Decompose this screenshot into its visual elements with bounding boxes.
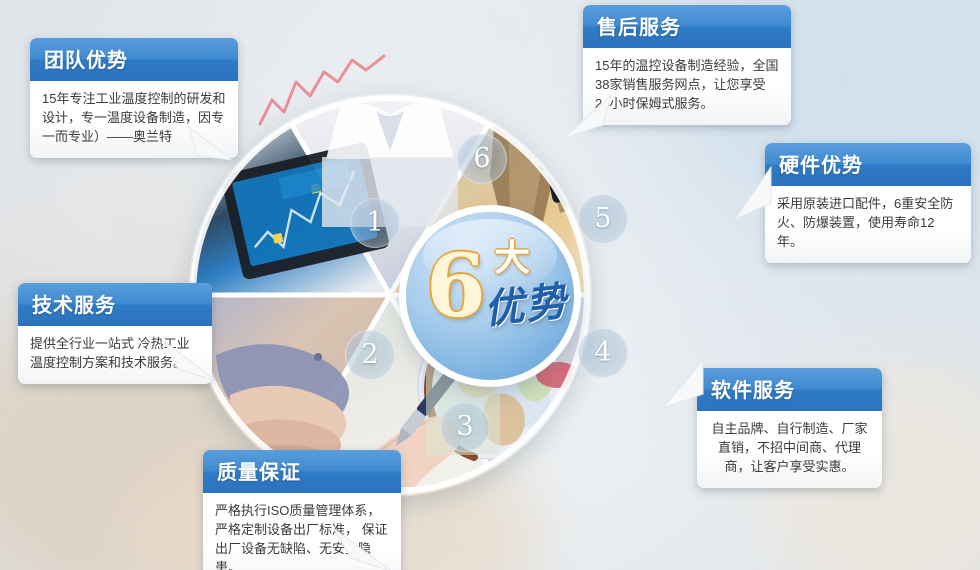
callout-team-title: 团队优势 — [30, 38, 238, 81]
callout-technical-title: 技术服务 — [18, 283, 212, 326]
callout-tail — [559, 95, 615, 155]
center-hub: 6 大 优势 — [406, 212, 574, 380]
center-word: 优势 — [482, 280, 570, 333]
segment-number-2[interactable]: 2 — [345, 330, 395, 380]
center-unit: 大 — [494, 240, 530, 276]
segment-number-5[interactable]: 5 — [578, 194, 628, 244]
callout-tail — [164, 341, 226, 391]
callout-hardware-title: 硬件优势 — [765, 143, 971, 186]
callout-software-service[interactable]: 软件服务 自主品牌、自行制造、厂家直销，不招中间商、代理商，让客户享受实惠。 — [697, 368, 882, 488]
infographic-canvas: 6 大 优势 1 2 3 4 5 6 团队优势 15年专注工业温度控制的研发和设… — [0, 0, 980, 570]
callout-software-body: 自主品牌、自行制造、厂家直销，不招中间商、代理商，让客户享受实惠。 — [697, 411, 882, 488]
callout-after-sales-title: 售后服务 — [583, 5, 791, 48]
callout-software-title: 软件服务 — [697, 368, 882, 411]
center-number: 6 — [426, 244, 486, 330]
callout-hardware-body: 采用原装进口配件，6重安全防火、防爆装置，使用寿命12年。 — [765, 186, 971, 263]
segment-number-4[interactable]: 4 — [578, 328, 628, 378]
callout-team-advantage[interactable]: 团队优势 15年专注工业温度控制的研发和设计，专一温度设备制造，因专一而专业）—… — [30, 38, 238, 158]
callout-tail — [735, 165, 779, 223]
callout-hardware-advantage[interactable]: 硬件优势 采用原装进口配件，6重安全防火、防爆装置，使用寿命12年。 — [765, 143, 971, 263]
callout-quality-title: 质量保证 — [203, 450, 401, 493]
segment-number-3[interactable]: 3 — [440, 402, 490, 452]
callout-technical-service[interactable]: 技术服务 提供全行业一站式 冷热工业温度控制方案和技术服务。 — [18, 283, 212, 384]
callout-quality-assurance[interactable]: 质量保证 严格执行ISO质量管理体系，严格定制设备出厂标准， 保证出厂设备无缺陷… — [203, 450, 401, 570]
callout-after-sales[interactable]: 售后服务 15年的温控设备制造经验，全国38家销售服务网点，让您享受24小时保姆… — [583, 5, 791, 125]
callout-tail — [188, 126, 244, 184]
callout-tail — [333, 528, 403, 570]
segment-number-1[interactable]: 1 — [350, 198, 400, 248]
segment-number-6[interactable]: 6 — [457, 134, 507, 184]
callout-tail — [663, 360, 711, 414]
